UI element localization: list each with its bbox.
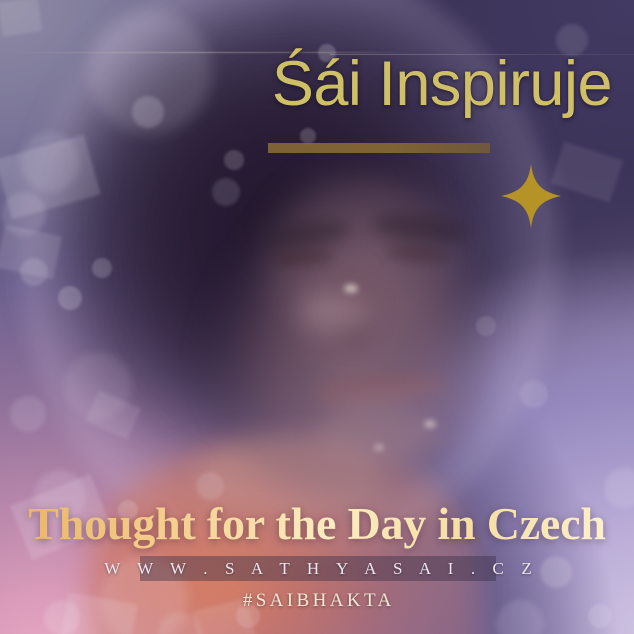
portrait-cheek-highlight	[300, 292, 370, 332]
portrait-highlight-a	[344, 284, 358, 293]
portrait-highlight-c	[374, 444, 384, 451]
portrait-chin	[316, 406, 436, 462]
portrait-highlight-b	[424, 420, 436, 428]
hashtag-text[interactable]: #SAIBHAKTA	[0, 590, 634, 612]
four-point-sparkle-icon	[501, 164, 561, 228]
website-url[interactable]: W W W . S A T H Y A S A I . C Z	[140, 556, 496, 581]
headline-text: Thought for the Day in Czech	[0, 497, 634, 550]
poster-canvas: Śái Inspiruje Thought for the Day in Cze…	[0, 0, 634, 634]
title-underline-bar	[268, 143, 490, 153]
page-title: Śái Inspiruje	[272, 52, 612, 116]
